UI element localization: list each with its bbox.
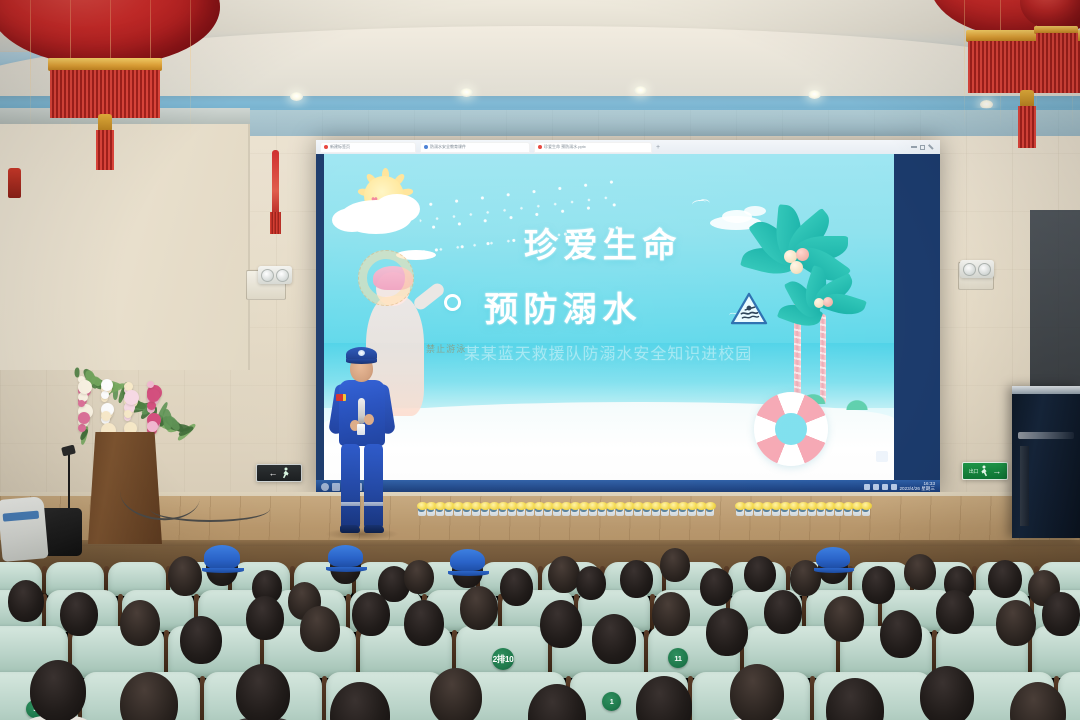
browser-tab-label: 新建标签页 bbox=[330, 144, 350, 150]
bouquet-flower bbox=[78, 380, 92, 394]
bouquet-flower bbox=[78, 424, 86, 432]
blue-cap bbox=[816, 547, 850, 568]
presenter-cap-brim bbox=[346, 359, 377, 364]
presenter-legs bbox=[341, 444, 383, 528]
favicon-icon bbox=[324, 145, 328, 149]
bouquet-flower bbox=[147, 381, 154, 388]
browser-tab-label: 防溺水安全教育课件 bbox=[430, 144, 466, 150]
piano-lid bbox=[1012, 386, 1080, 394]
seat-number-badge: 11 bbox=[668, 648, 688, 668]
running-man-icon bbox=[980, 465, 990, 477]
piano-reflection bbox=[1018, 432, 1074, 439]
bouquet-flower bbox=[101, 391, 109, 399]
cap-brim bbox=[448, 571, 489, 576]
taskbar-clock[interactable]: 16:33 2023/4/26 星期三 bbox=[900, 482, 936, 492]
flower-bouquet bbox=[72, 370, 182, 442]
presenter-hand-right bbox=[364, 414, 374, 425]
audience-head bbox=[880, 610, 922, 658]
close-icon[interactable] bbox=[928, 144, 933, 149]
no-swimming-warning-triangle-icon bbox=[730, 292, 768, 326]
reflective-stripe bbox=[341, 502, 360, 506]
audience-head bbox=[246, 596, 284, 640]
presenter-leg-right bbox=[364, 444, 383, 528]
lantern-tassel bbox=[50, 70, 160, 118]
seat-number-badge: 1 bbox=[602, 692, 621, 711]
slide-subtitle: 某某蓝天救援队防溺水安全知识进校园 bbox=[398, 340, 818, 364]
audience-head bbox=[300, 606, 340, 652]
audience-head bbox=[996, 600, 1036, 646]
audience-head bbox=[862, 566, 895, 604]
audience-head bbox=[700, 568, 733, 606]
slide-title-line-2: 预防溺水 bbox=[484, 282, 642, 331]
audience-seating: 2排101113 bbox=[0, 560, 1080, 720]
emergency-twin-spot-light bbox=[258, 266, 292, 284]
slide-title-block: 珍爱生命 预防溺水 某某蓝天救援队防溺水安全知识进校园 bbox=[324, 154, 894, 480]
slide-title-line-1: 珍爱生命 bbox=[524, 218, 682, 267]
piano-leg bbox=[1020, 446, 1029, 526]
lantern-tassel bbox=[1036, 33, 1078, 67]
audience-head bbox=[60, 592, 98, 636]
input-method-icon[interactable] bbox=[882, 484, 888, 490]
audience-head bbox=[180, 616, 222, 664]
volume-icon[interactable] bbox=[873, 484, 879, 490]
bouquet-flower bbox=[147, 389, 160, 402]
floor-cable bbox=[150, 496, 270, 522]
exit-arrow-left-icon: ← bbox=[269, 469, 278, 478]
audience-head bbox=[576, 566, 606, 600]
auditorium-scene: ← 出口 → 新建标签页 防溺水安全教育课件 珍爱生命 预防溺水.pptx bbox=[0, 0, 1080, 720]
chinese-flag-patch-icon bbox=[336, 394, 346, 401]
audience-head bbox=[548, 556, 580, 593]
exit-arrow-right-icon: → bbox=[992, 467, 1001, 476]
bouquet-flower bbox=[147, 401, 156, 410]
minimize-icon[interactable] bbox=[911, 146, 917, 148]
browser-tab[interactable]: 新建标签页 bbox=[320, 142, 416, 153]
audience-head bbox=[790, 560, 821, 596]
audience-head bbox=[1042, 592, 1080, 636]
browser-tab-label: 珍爱生命 预防溺水.pptx bbox=[544, 144, 586, 150]
blue-cap bbox=[204, 545, 240, 569]
fire-extinguisher bbox=[8, 168, 21, 198]
audience-head bbox=[540, 600, 582, 648]
audience-head bbox=[460, 586, 498, 630]
browser-tab-bar[interactable]: 新建标签页 防溺水安全教育课件 珍爱生命 预防溺水.pptx + bbox=[316, 140, 940, 154]
exit-sign-left: ← bbox=[256, 464, 302, 482]
bouquet-flower bbox=[147, 421, 158, 432]
audience-head bbox=[430, 668, 482, 720]
blue-cap bbox=[328, 545, 363, 567]
wall-panel-left bbox=[0, 110, 250, 370]
clock-date: 2023/4/26 星期三 bbox=[900, 486, 936, 491]
audience-head bbox=[744, 556, 776, 592]
cap-brim bbox=[326, 567, 367, 572]
sandbag-label bbox=[3, 511, 40, 522]
potted-flower-row bbox=[418, 498, 866, 516]
audience-head bbox=[988, 560, 1022, 598]
slide-bullet-circle bbox=[444, 294, 461, 311]
yellow-chrysanthemum bbox=[705, 502, 716, 510]
ceiling-downlight bbox=[634, 86, 647, 95]
reflective-stripe bbox=[364, 502, 383, 506]
new-tab-button[interactable]: + bbox=[656, 144, 660, 151]
red-cord-tassel bbox=[270, 212, 281, 234]
audience-head bbox=[904, 554, 936, 590]
system-tray[interactable]: 16:33 2023/4/26 星期三 bbox=[864, 482, 936, 492]
presenter-rescue-team-member bbox=[330, 340, 394, 538]
window-controls[interactable] bbox=[911, 145, 936, 150]
audience-head bbox=[764, 590, 802, 634]
cap-brim bbox=[202, 568, 244, 573]
audience-head bbox=[730, 664, 784, 720]
battery-icon[interactable] bbox=[891, 484, 897, 490]
bouquet-flower bbox=[124, 390, 139, 405]
blue-cap bbox=[450, 549, 485, 571]
exit-sign-label: 出口 bbox=[969, 468, 978, 475]
presenter-leg-left bbox=[341, 444, 360, 528]
yellow-chrysanthemum bbox=[861, 502, 872, 510]
seat-number-badge: 2排10 bbox=[492, 648, 514, 670]
presentation-slide: 禁止游泳 珍爱生命 预防溺水 某某蓝天救援队防溺水安全知识进校园 bbox=[324, 154, 894, 480]
favicon-icon bbox=[424, 145, 428, 149]
projection-screen[interactable]: 新建标签页 防溺水安全教育课件 珍爱生命 预防溺水.pptx + bbox=[316, 140, 940, 494]
audience-head bbox=[168, 556, 202, 596]
bouquet-flower bbox=[124, 410, 132, 418]
audience-head bbox=[592, 614, 636, 664]
audience-head bbox=[404, 560, 434, 594]
audience-head bbox=[920, 666, 974, 720]
browser-tab-active[interactable]: 珍爱生命 预防溺水.pptx bbox=[534, 142, 652, 153]
red-lantern-far-right bbox=[1020, 0, 1080, 104]
audience-head bbox=[620, 560, 653, 598]
running-man-icon bbox=[280, 467, 290, 479]
slide-scroll-button[interactable] bbox=[876, 451, 888, 462]
lantern-tassel-lower bbox=[96, 130, 114, 170]
audience-head bbox=[236, 664, 290, 720]
network-icon[interactable] bbox=[864, 484, 870, 490]
cap-brim bbox=[814, 568, 854, 573]
bouquet-flower bbox=[78, 412, 90, 424]
audience-head bbox=[660, 548, 690, 582]
presenter-boot bbox=[364, 525, 384, 533]
presenter-id-badge bbox=[357, 424, 365, 435]
ceiling-downlight bbox=[460, 88, 473, 97]
bouquet-flower bbox=[101, 411, 111, 421]
red-lantern-left bbox=[0, 0, 240, 138]
emergency-twin-spot-light bbox=[960, 260, 994, 278]
browser-tab[interactable]: 防溺水安全教育课件 bbox=[420, 142, 530, 153]
audience-head bbox=[120, 600, 160, 646]
start-button-icon[interactable] bbox=[321, 483, 329, 491]
stage-right-doorway bbox=[1030, 210, 1080, 390]
audience-head bbox=[706, 608, 748, 656]
ceiling-downlight bbox=[290, 92, 303, 101]
exit-sign-right: 出口 → bbox=[962, 462, 1008, 480]
audience-head bbox=[824, 596, 864, 642]
audience-head bbox=[404, 600, 444, 646]
sandbag bbox=[0, 496, 49, 562]
favicon-icon bbox=[538, 145, 542, 149]
presenter-boot bbox=[340, 525, 360, 533]
upright-piano bbox=[1012, 386, 1080, 538]
lantern-tassel-lower bbox=[1018, 106, 1036, 148]
maximize-icon[interactable] bbox=[920, 145, 925, 150]
audience-head bbox=[8, 580, 44, 622]
bouquet-flower bbox=[101, 379, 113, 391]
bouquet-flower bbox=[78, 400, 85, 407]
audience-head bbox=[936, 590, 974, 634]
audience-head bbox=[652, 592, 690, 636]
audience-head bbox=[500, 568, 533, 606]
cap-badge-icon bbox=[358, 350, 365, 356]
red-decorative-cord bbox=[272, 150, 279, 218]
audience-head bbox=[352, 592, 390, 636]
ceiling-downlight bbox=[808, 90, 821, 99]
audience-head bbox=[30, 660, 86, 720]
